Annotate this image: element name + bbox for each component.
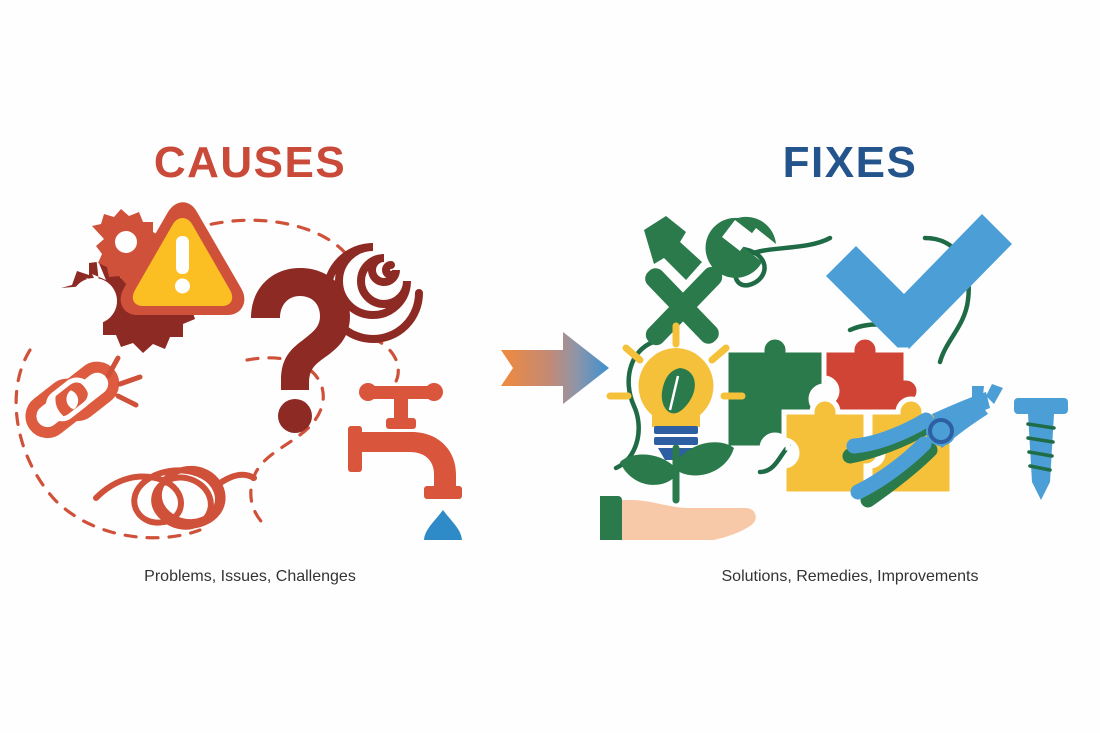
sleeve	[600, 496, 622, 540]
infographic-canvas: CAUSES	[0, 0, 1100, 733]
tangled-knot-icon	[96, 469, 254, 527]
water-drop-icon	[424, 510, 462, 540]
fixes-panel: FIXES	[600, 0, 1100, 733]
arrow-shape	[501, 332, 609, 404]
broken-chain-icon	[24, 358, 140, 439]
causes-title: CAUSES	[0, 136, 500, 190]
causes-icon-cluster	[0, 200, 500, 540]
leaking-faucet-icon	[348, 383, 462, 499]
hand-sprout-icon	[600, 442, 756, 540]
question-mark-icon	[251, 268, 350, 433]
causes-caption: Problems, Issues, Challenges	[0, 566, 500, 588]
fixes-caption: Solutions, Remedies, Improvements	[600, 566, 1100, 588]
causes-panel: CAUSES	[0, 0, 500, 733]
fixes-icon-cluster	[600, 200, 1100, 540]
transition-arrow	[495, 328, 615, 408]
warning-exclamation-bar	[176, 236, 189, 274]
small-gear-hub	[115, 231, 137, 253]
question-mark-dot	[278, 399, 312, 433]
screw-icon	[1014, 398, 1068, 500]
lightbulb-leaf-icon	[610, 326, 742, 460]
warning-exclamation-dot	[175, 279, 190, 294]
fixes-title: FIXES	[600, 136, 1100, 190]
checkmark-icon	[826, 214, 1012, 354]
